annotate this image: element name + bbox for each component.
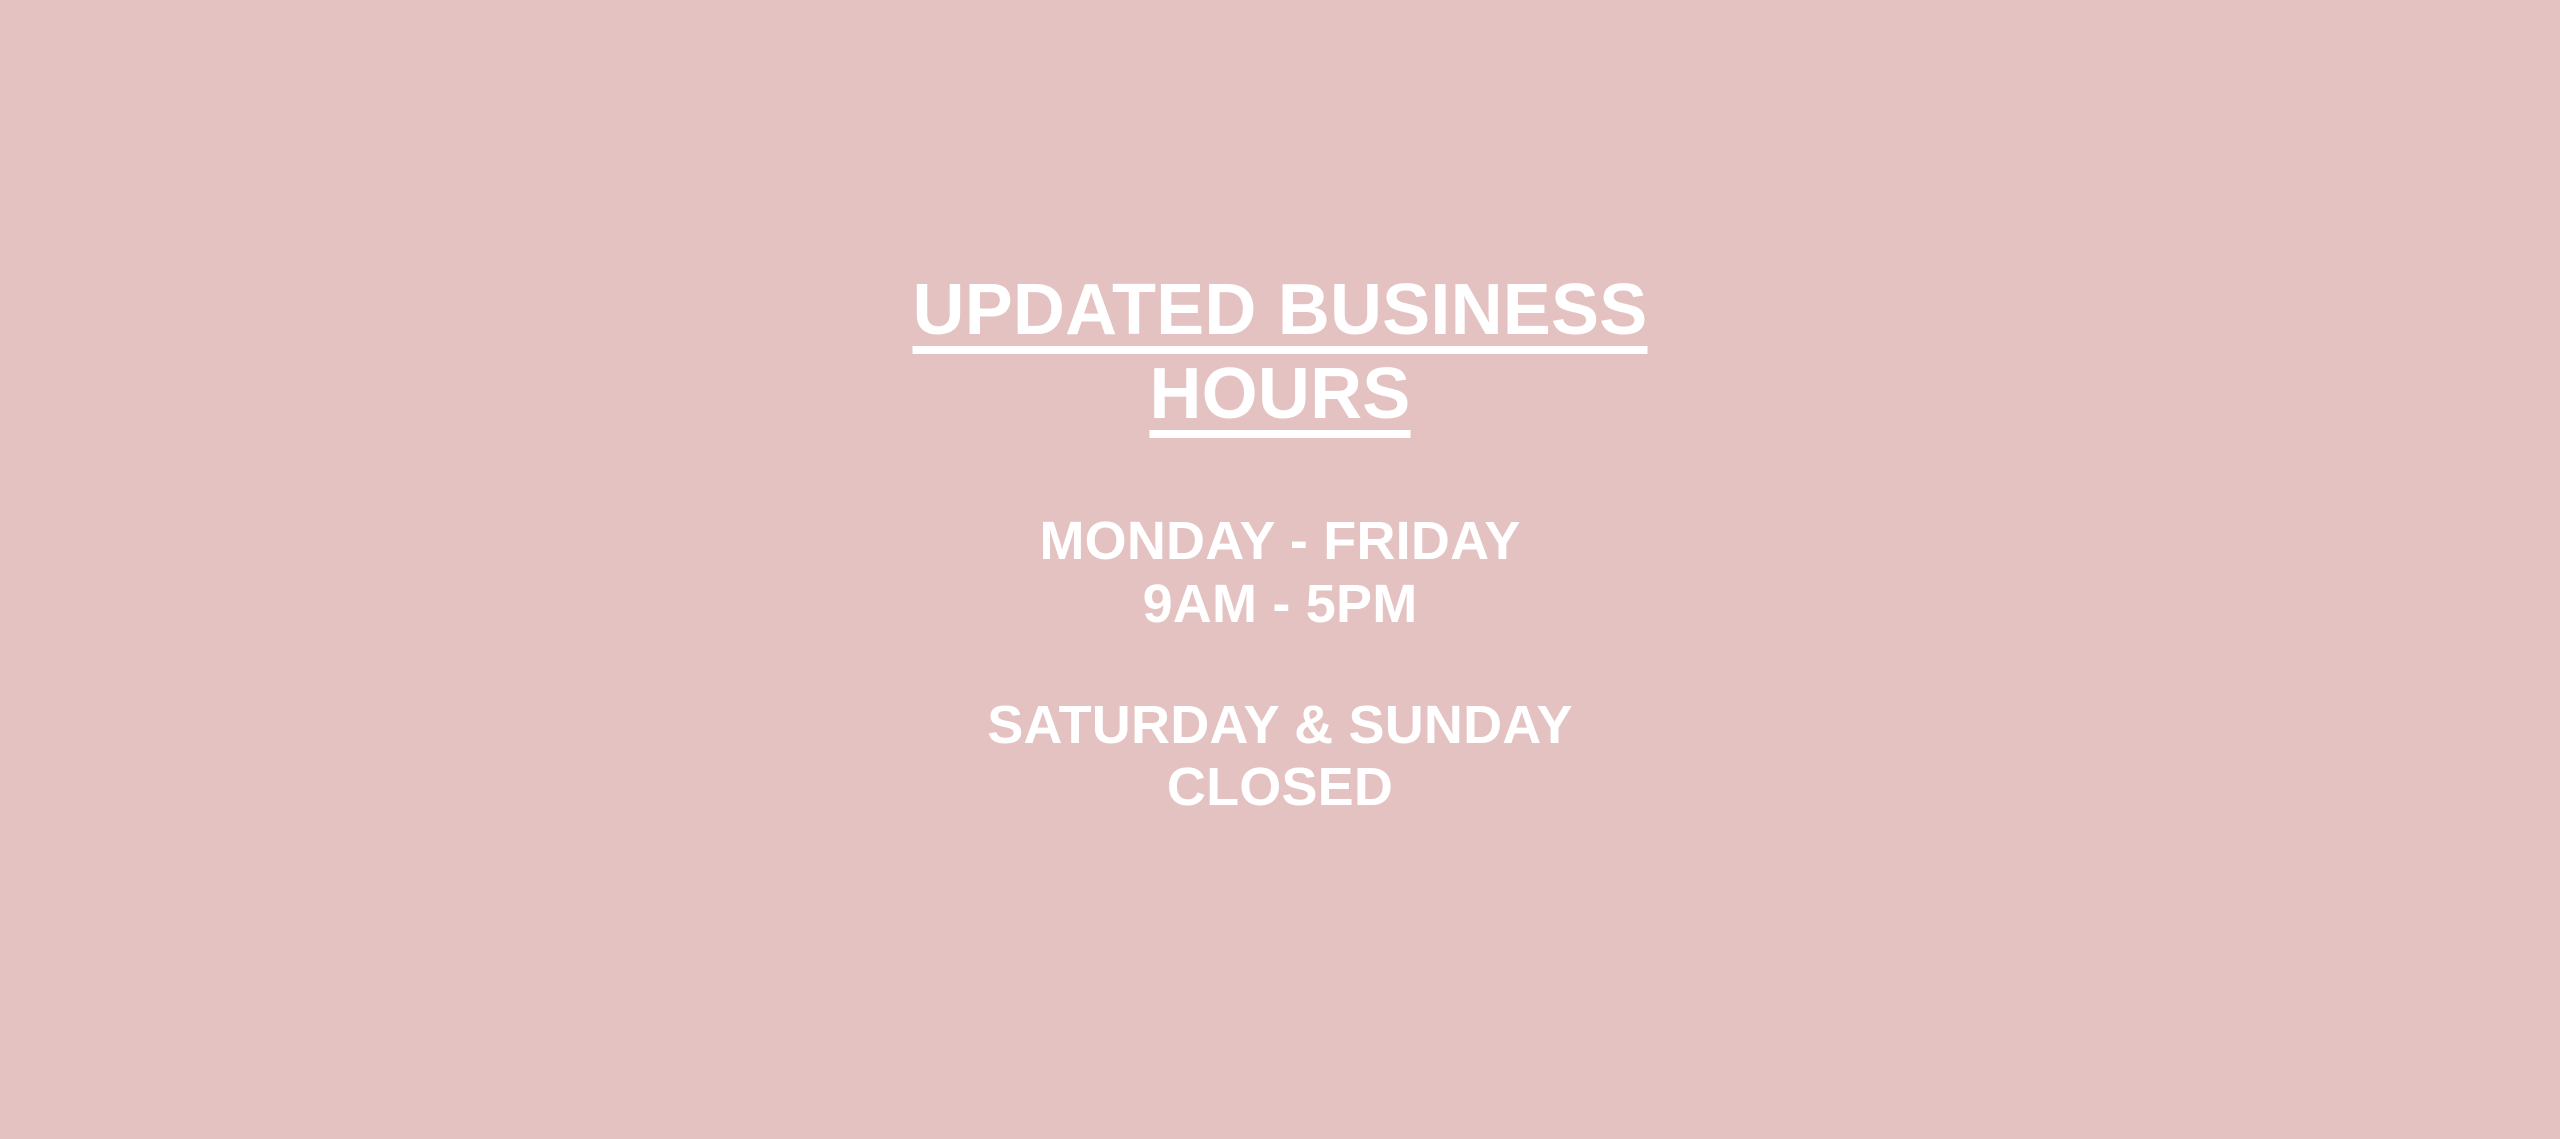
- hours-entry-weekend: SATURDAY & SUNDAY CLOSED: [987, 694, 1573, 819]
- hours-entry-weekday: MONDAY - FRIDAY 9AM - 5PM: [1039, 510, 1520, 635]
- poster-content: UPDATED BUSINESS HOURS MONDAY - FRIDAY 9…: [900, 268, 1660, 819]
- page-title: UPDATED BUSINESS HOURS: [910, 268, 1650, 436]
- business-hours-poster: UPDATED BUSINESS HOURS MONDAY - FRIDAY 9…: [0, 0, 2560, 1139]
